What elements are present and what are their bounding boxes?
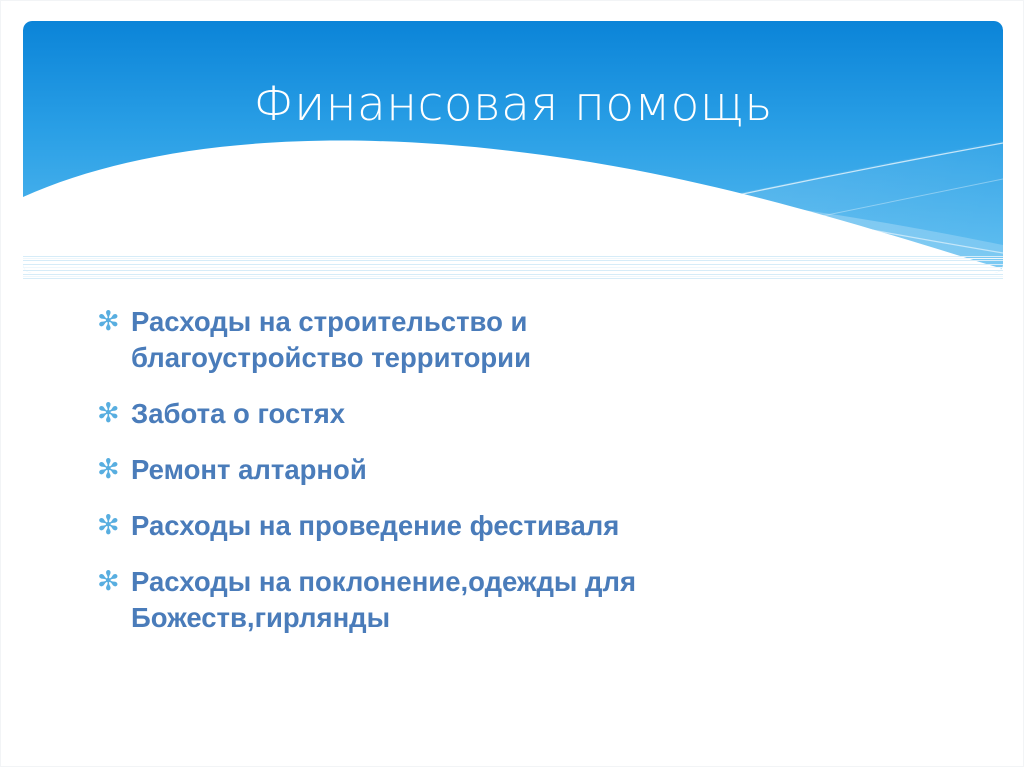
slide-title: Финансовая помощь <box>23 79 1003 131</box>
list-item: ✻ Расходы на проведение фестиваля <box>97 508 917 544</box>
list-item-text: Расходы на поклонение,одежды для Божеств… <box>131 564 751 636</box>
banner-artwork <box>23 21 1003 273</box>
list-item: ✻ Расходы на поклонение,одежды для Божес… <box>97 564 917 636</box>
slide-content-list: ✻ Расходы на строительство и благоустрой… <box>97 304 917 656</box>
list-item: ✻ Ремонт алтарной <box>97 452 917 488</box>
list-item-text: Ремонт алтарной <box>131 452 751 488</box>
list-item: ✻ Забота о гостях <box>97 396 917 432</box>
asterisk-bullet-icon: ✻ <box>97 564 131 600</box>
asterisk-bullet-icon: ✻ <box>97 396 131 432</box>
asterisk-bullet-icon: ✻ <box>97 304 131 340</box>
list-item-text: Расходы на строительство и благоустройст… <box>131 304 751 376</box>
presentation-slide: Финансовая помощь ✻ Расходы на строитель… <box>0 0 1024 767</box>
list-item-text: Забота о гостях <box>131 396 751 432</box>
slide-header-banner <box>23 21 1003 273</box>
list-item: ✻ Расходы на строительство и благоустрой… <box>97 304 917 376</box>
asterisk-bullet-icon: ✻ <box>97 452 131 488</box>
list-item-text: Расходы на проведение фестиваля <box>131 508 751 544</box>
asterisk-bullet-icon: ✻ <box>97 508 131 544</box>
